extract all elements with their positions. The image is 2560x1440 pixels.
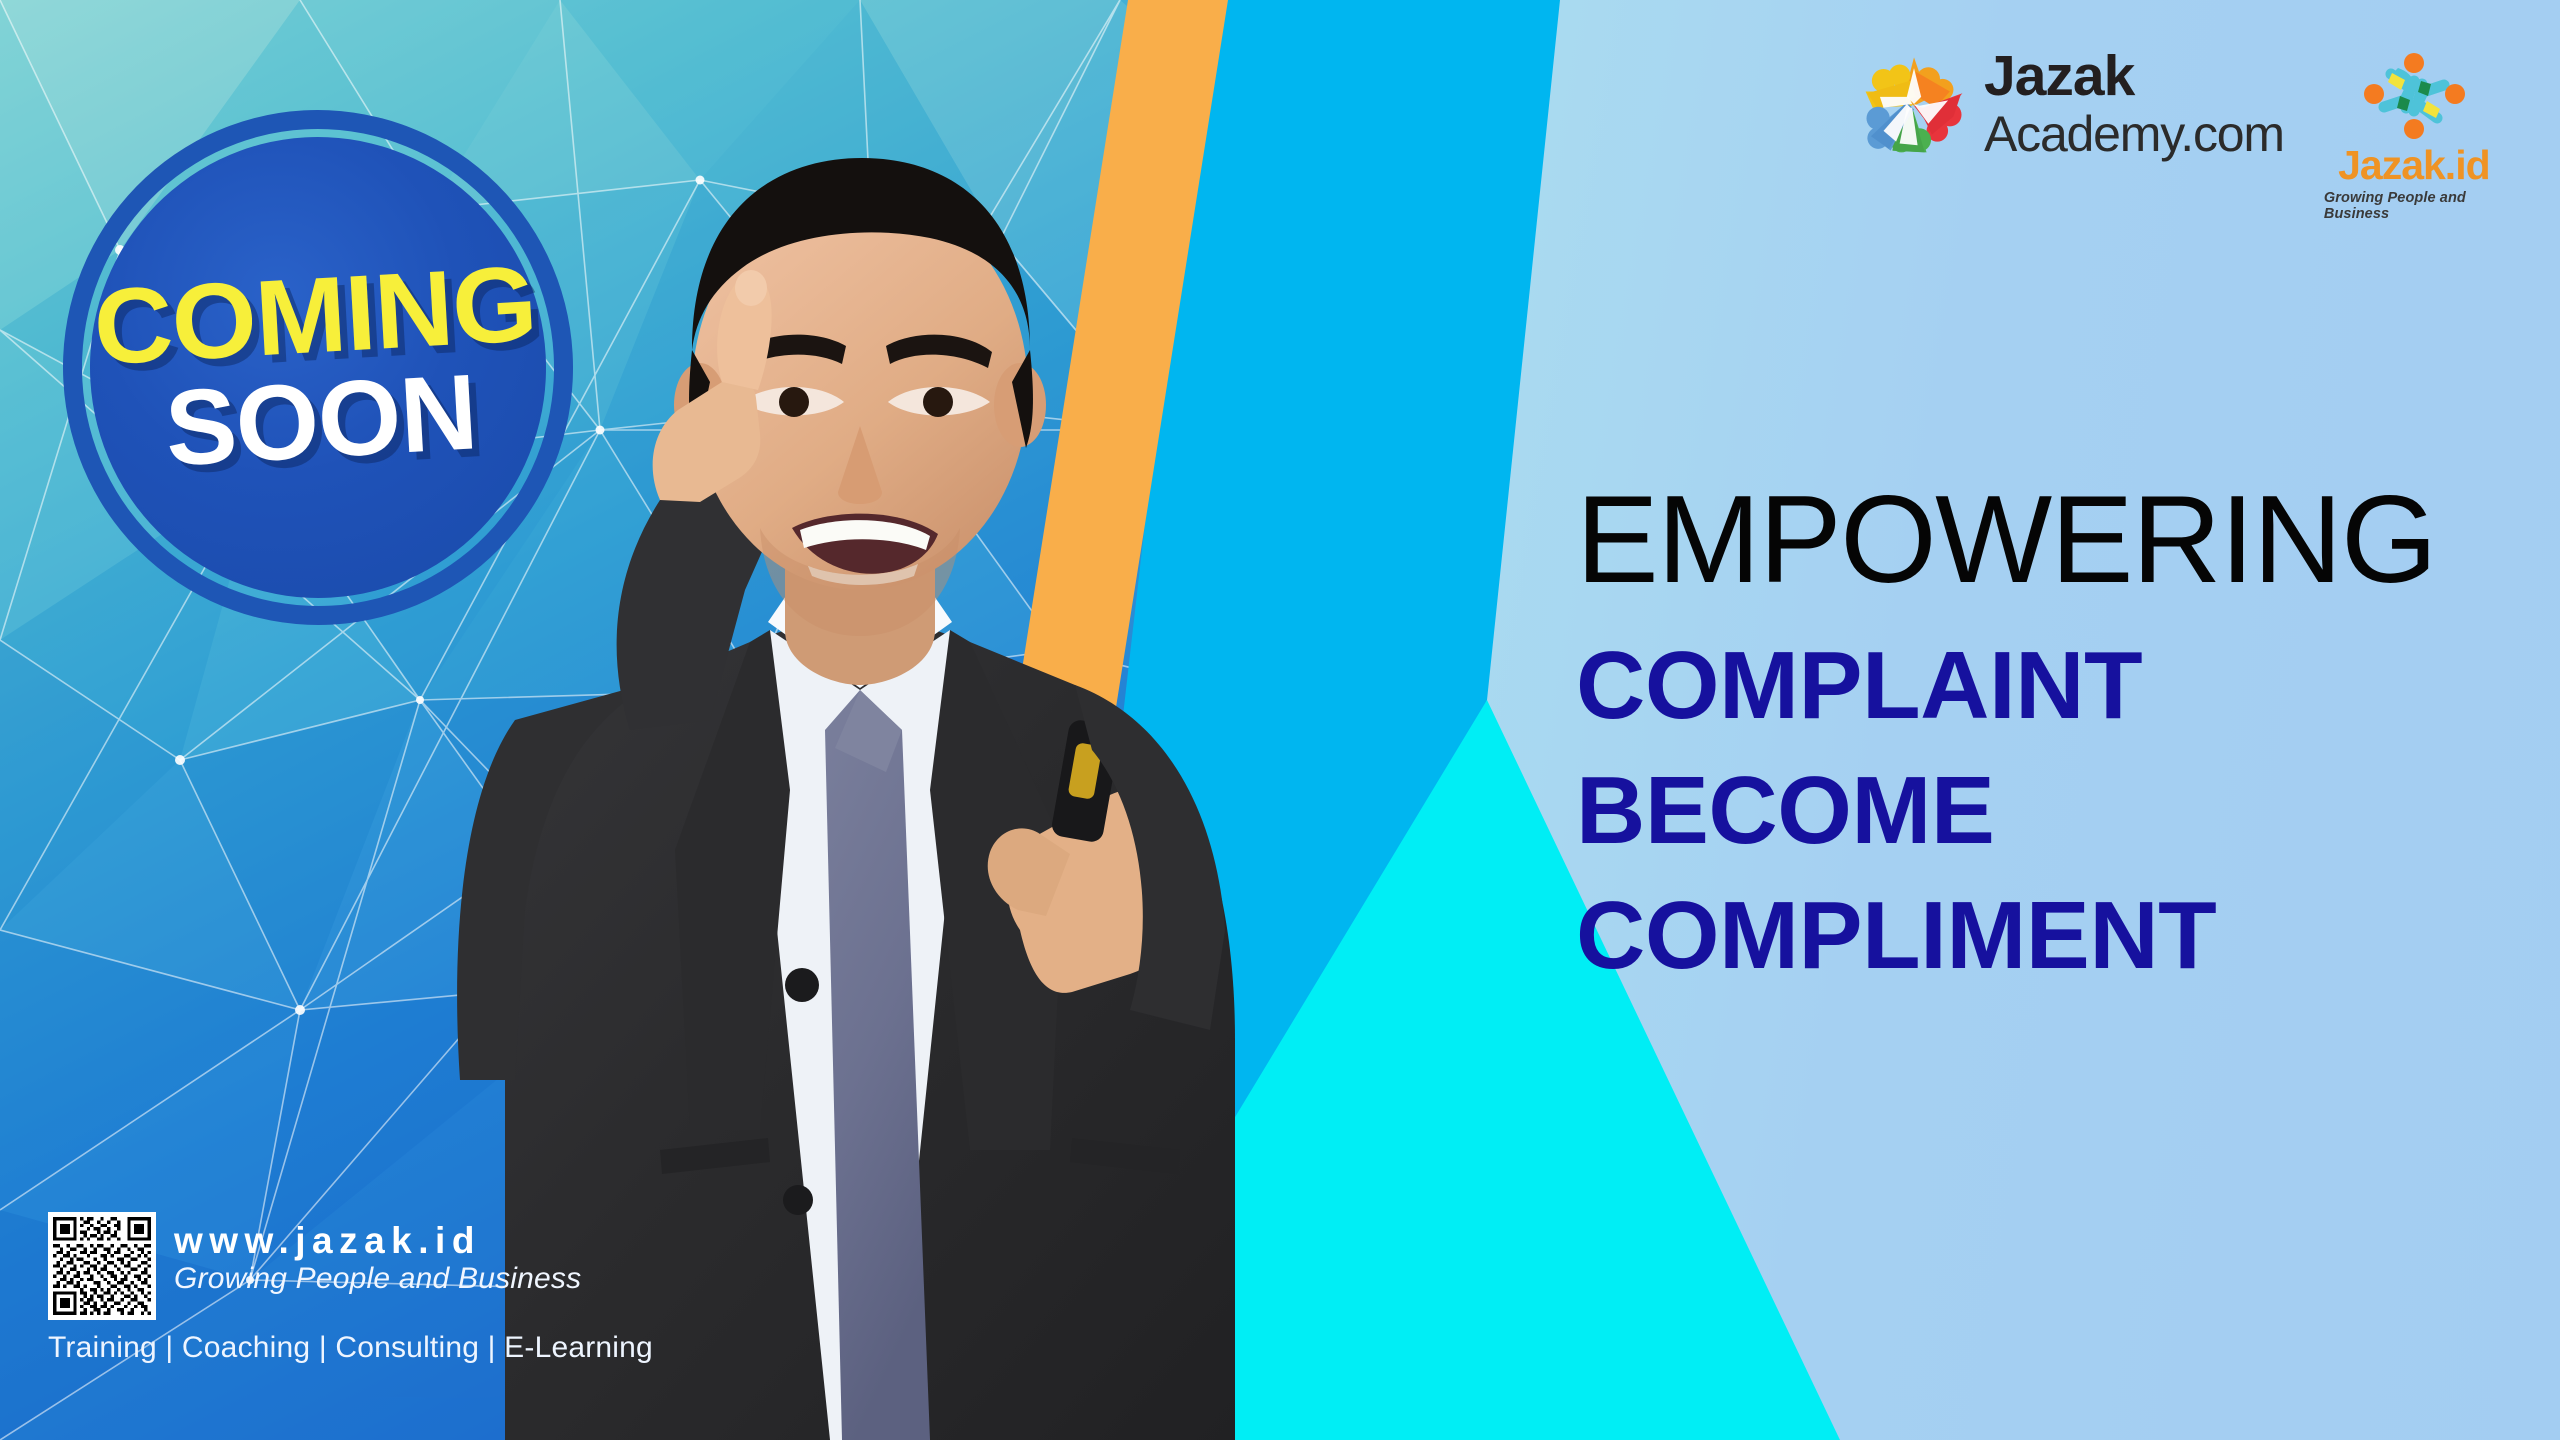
jazak-academy-logo[interactable]: Jazak Academy.com — [1860, 48, 2284, 159]
jazak-id-tagline: Growing People and Business — [2324, 190, 2504, 222]
headline-line-empowering: EMPOWERING — [1576, 478, 2506, 602]
pinwheel-people-icon — [2358, 48, 2470, 144]
footer-block: www.jazak.id Growing People and Business… — [48, 1212, 668, 1365]
coming-soon-badge[interactable]: COMING SOON — [49, 96, 587, 639]
headline-line-become: BECOME — [1576, 749, 2506, 874]
promo-banner: COMING SOON — [0, 0, 2560, 1440]
website-url[interactable]: www.jazak.id — [174, 1222, 581, 1259]
five-point-star-people-icon — [1860, 52, 1968, 156]
services-list: Training | Coaching | Consulting | E-Lea… — [48, 1331, 668, 1365]
headline-line-compliment: COMPLIMENT — [1576, 874, 2506, 999]
headline-line-complaint: COMPLAINT — [1576, 624, 2506, 749]
logo-row: Jazak Academy.com — [1860, 48, 2504, 222]
academy-name-top: Jazak — [1984, 48, 2284, 105]
company-tagline: Growing People and Business — [174, 1264, 581, 1294]
jazak-id-wordmark: Jazak.id — [2338, 142, 2490, 189]
jazak-id-logo[interactable]: Jazak.id Growing People and Business — [2324, 48, 2504, 222]
academy-name-bottom: Academy.com — [1984, 109, 2284, 159]
badge-line-coming: COMING — [91, 254, 538, 377]
qr-code-icon[interactable] — [48, 1212, 156, 1320]
headline-block: EMPOWERING COMPLAINT BECOME COMPLIMENT — [1576, 478, 2506, 998]
footer-top-row: www.jazak.id Growing People and Business — [48, 1212, 668, 1320]
